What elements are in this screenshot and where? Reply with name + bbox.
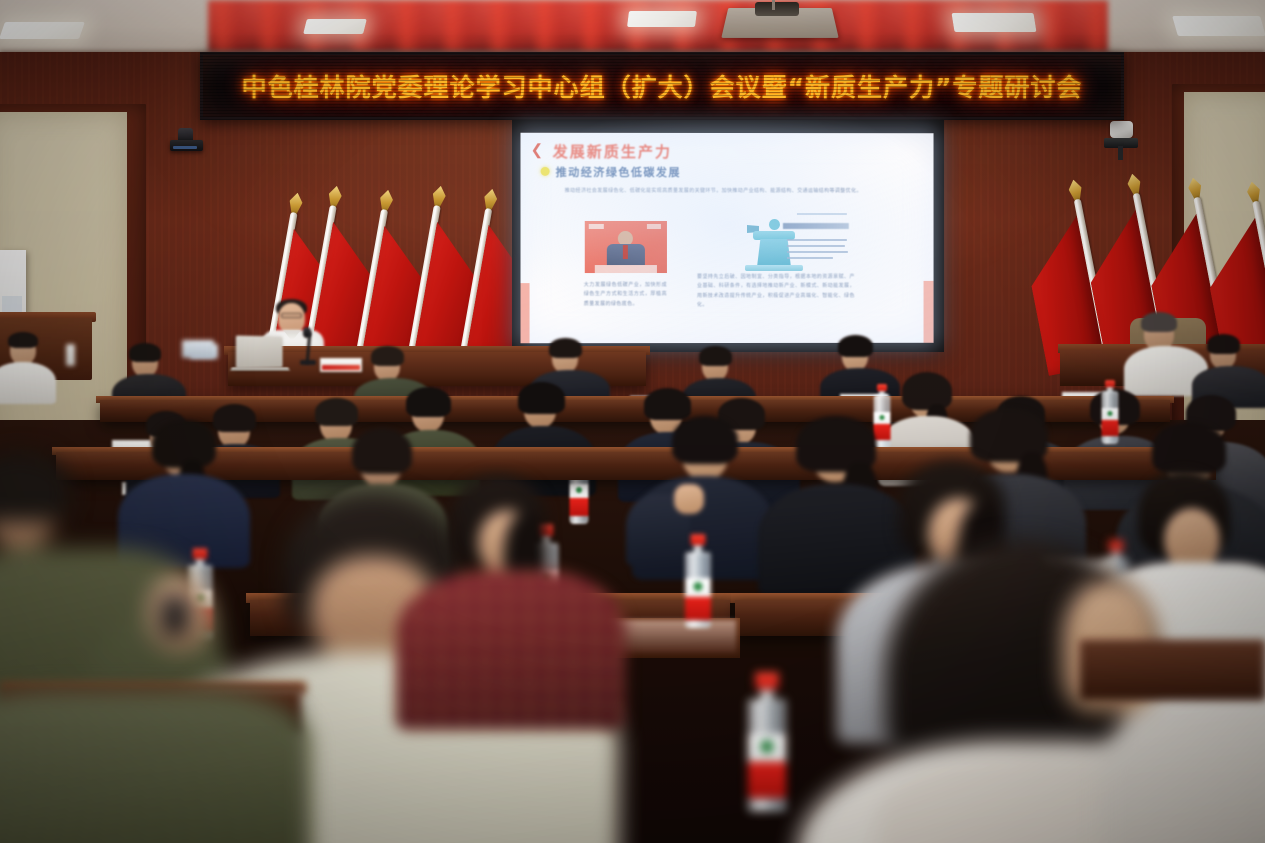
- attendee-hair: [152, 420, 216, 468]
- wall-camera-icon: [1110, 121, 1133, 138]
- attendee-hair: [644, 388, 691, 420]
- bottle-cap: [755, 672, 779, 689]
- illustration-podium-base: [745, 265, 803, 271]
- laptop-screen: [236, 335, 283, 368]
- attendee-hair: [213, 404, 256, 432]
- bottle-label-red: [1102, 420, 1119, 436]
- slide-caption-right: 要坚持先立后破、因地制宜、分类指导，根据本地的资源禀赋、产业基础、科研条件，有选…: [697, 273, 855, 310]
- water-bottle: [1100, 380, 1120, 444]
- ceiling-light: [0, 22, 85, 39]
- illustration-text-line: [787, 257, 833, 259]
- slide-accent-bar-left: [521, 283, 530, 343]
- slide-caption-left: 大力发展绿色低碳产业，加快形成绿色生产方式和生活方式，厚植高质量发展的绿色底色。: [584, 281, 667, 309]
- attendee-hair: [8, 332, 38, 348]
- attendee-hair: [838, 335, 873, 357]
- attendee-torso: [0, 362, 56, 404]
- ceiling-light: [1172, 16, 1265, 36]
- bottle-cap: [691, 534, 706, 545]
- bottle-label-red: [748, 762, 787, 798]
- water-bottle: [745, 672, 789, 812]
- illustration-text-line: [787, 251, 848, 253]
- illustration-text-line: [787, 239, 847, 241]
- bottle-logo-icon: [694, 582, 703, 591]
- bottle-label-red: [570, 498, 589, 516]
- attendee-hair: [672, 416, 738, 464]
- projector-mount: [772, 0, 775, 10]
- attendee-hand: [674, 484, 704, 514]
- illustration-rule: [797, 213, 847, 215]
- ceiling-light: [303, 19, 367, 34]
- slide-photo-desk: [595, 265, 657, 273]
- attendee-hair: [406, 387, 451, 417]
- illustration-heading: [783, 223, 849, 229]
- slide-illustration: [717, 217, 849, 279]
- slide-title: 发展新质生产力: [553, 141, 672, 162]
- bottle-logo-icon: [880, 415, 885, 420]
- bottle-cap: [877, 384, 887, 391]
- slide-bullet-dot-icon: [541, 167, 550, 176]
- led-banner-text: 中色桂林院党委理论学习中心组（扩大）会议暨“新质生产力”专题研讨会: [242, 68, 1083, 104]
- attendee-hair: [1141, 312, 1177, 332]
- attendee-hair: [518, 382, 565, 414]
- bottle-logo-icon: [1108, 411, 1113, 416]
- slide-photo-tag: [647, 224, 661, 229]
- bottle-label-red: [874, 424, 891, 440]
- attendee-hair: [371, 346, 404, 366]
- water-bottle: [66, 344, 75, 366]
- microphone-icon: [303, 327, 311, 338]
- illustration-speaker-head: [769, 219, 780, 230]
- projection-screen: ❮ 发展新质生产力 推动经济绿色低碳发展 推动经济社会发展绿色化、低碳化是实现高…: [521, 133, 934, 344]
- bottle-cap: [1109, 540, 1124, 551]
- attendee-phone: [162, 596, 188, 636]
- slide-photo-tag: [589, 224, 604, 229]
- bottle-cap: [1105, 380, 1115, 387]
- nameplate-accent: [322, 365, 360, 370]
- slide-back-chevron-icon: ❮: [531, 143, 544, 158]
- microphone-base: [300, 360, 316, 365]
- laptop-base: [230, 367, 289, 371]
- attendee-hair: [699, 346, 732, 366]
- attendee-hair: [1207, 334, 1240, 354]
- wall-speaker-accent: [173, 146, 197, 149]
- conference-room-photo: 中色桂林院党委理论学习中心组（扩大）会议暨“新质生产力”专题研讨会: [0, 0, 1265, 843]
- slide-photo: [585, 221, 667, 273]
- led-banner: 中色桂林院党委理论学习中心组（扩大）会议暨“新质生产力”专题研讨会: [200, 52, 1124, 120]
- tissue-box: [182, 340, 214, 358]
- slide-accent-bar-right: [924, 281, 934, 343]
- attendee-hair: [129, 343, 161, 362]
- attendee-plaid-pattern: [396, 570, 626, 730]
- presenter-glasses-icon: [281, 313, 302, 318]
- attendee-hair: [315, 398, 358, 426]
- bottle-label-red: [685, 597, 711, 620]
- projector-lens-icon: [755, 2, 799, 16]
- slide-subtitle: 推动经济绿色低碳发展: [556, 164, 681, 180]
- desk-row: [1080, 640, 1265, 700]
- illustration-text-line: [787, 245, 845, 247]
- wall-camera-arm: [1118, 146, 1123, 160]
- attendee-hair: [352, 428, 412, 474]
- ceiling-light: [951, 13, 1036, 32]
- attendee-hair: [1152, 422, 1226, 474]
- attendee-torso: [0, 690, 310, 843]
- attendee-head: [1164, 508, 1220, 570]
- slide-lead-paragraph: 推动经济社会发展绿色化、低碳化是实现高质量发展的关键环节。加快推动产业结构、能源…: [565, 187, 895, 196]
- bottle-logo-icon: [761, 740, 774, 753]
- water-bottle: [684, 534, 712, 628]
- attendee-hair: [902, 372, 952, 410]
- illustration-podium-body: [757, 239, 791, 267]
- bottle-cap: [193, 548, 208, 559]
- slide-photo-person-tie: [623, 245, 628, 259]
- bottle-logo-icon: [576, 487, 582, 493]
- ceiling-light: [627, 11, 697, 27]
- attendee-hair: [549, 338, 582, 358]
